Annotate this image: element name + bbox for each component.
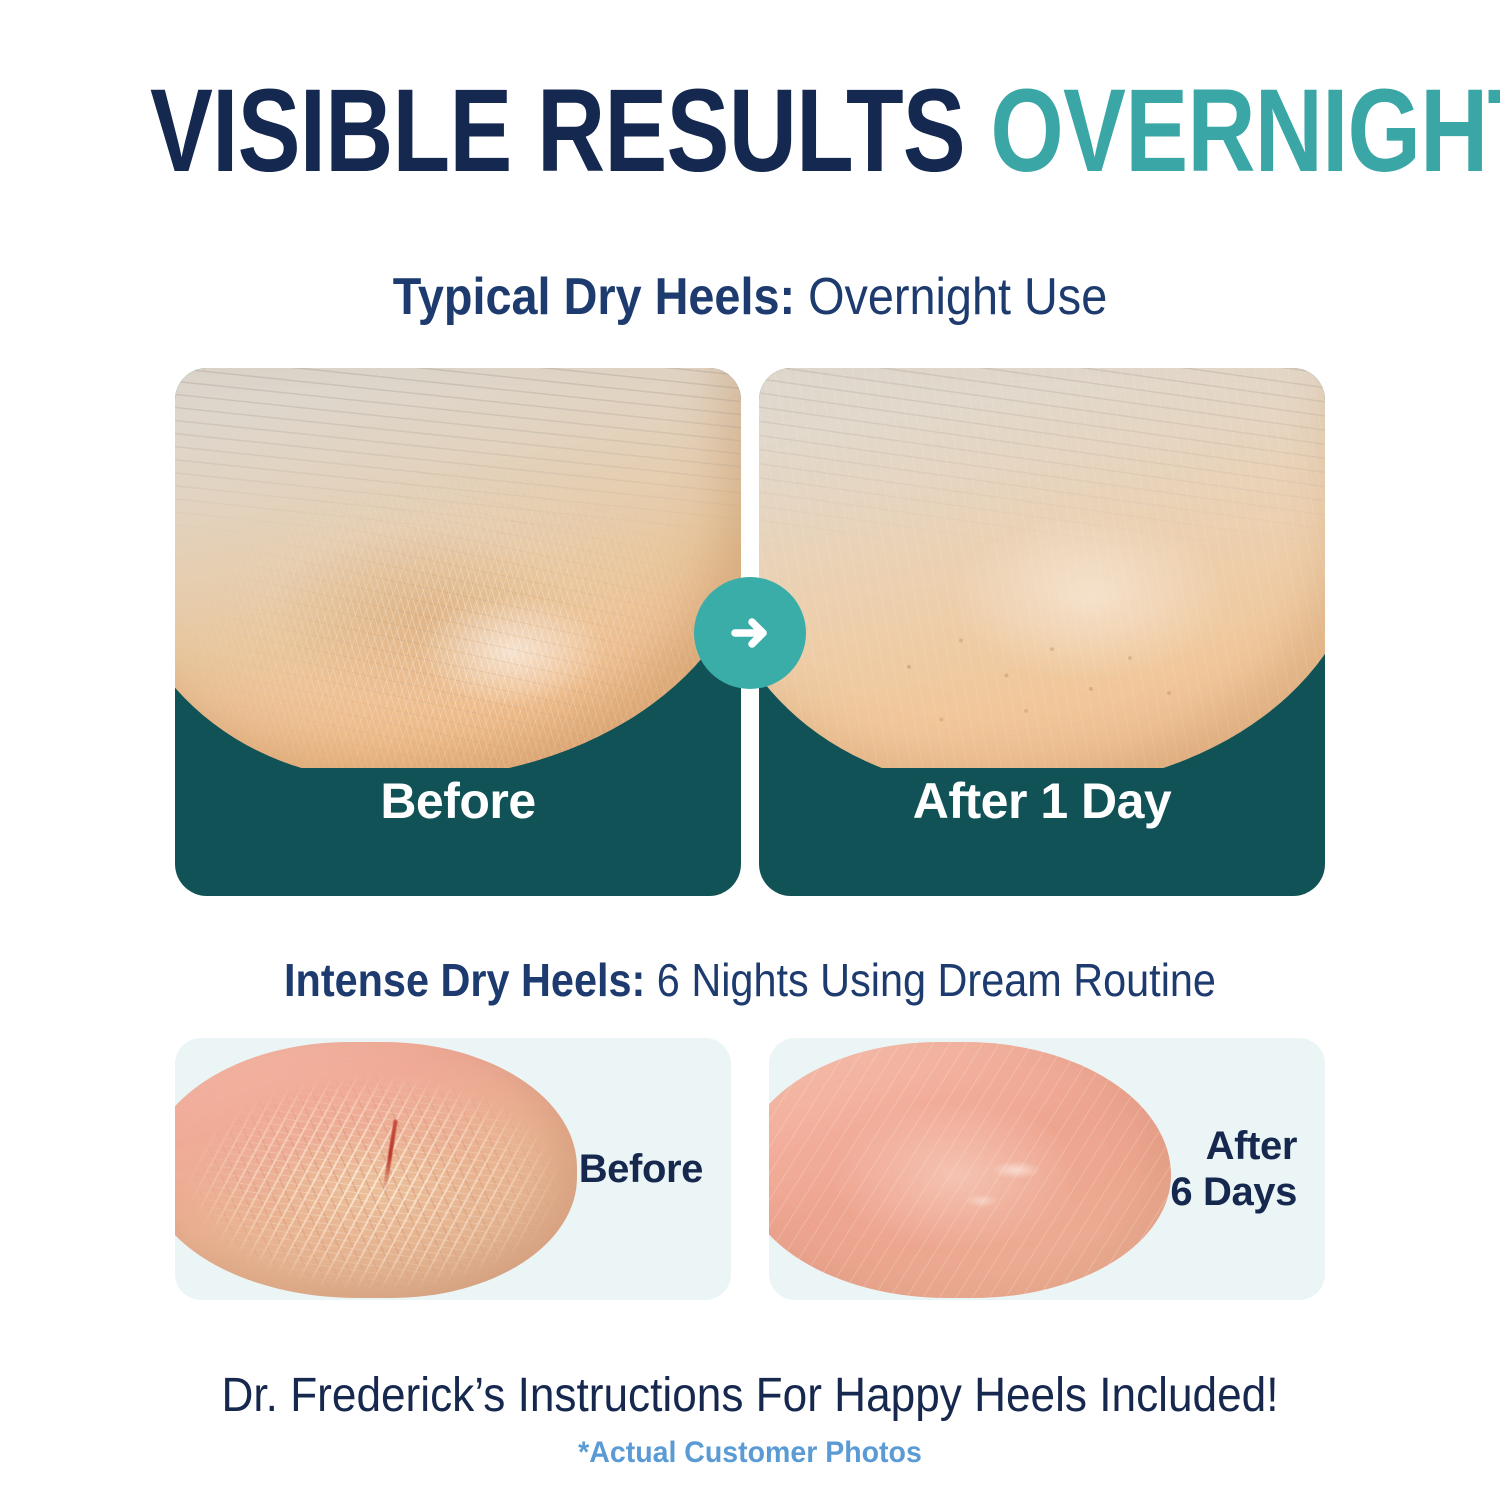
infographic-page: VISIBLE RESULTS OVERNIGHT Typical Dry He…: [0, 0, 1500, 1500]
headline-navy-text: VISIBLE RESULTS: [150, 65, 965, 197]
card-label-after-line-2: 6 Days: [1170, 1169, 1297, 1215]
headline-teal-text: OVERNIGHT: [990, 65, 1500, 197]
section-1-title: Typical Dry Heels: Overnight Use: [75, 268, 1425, 326]
footer-headline: Dr. Frederick’s Instructions For Happy H…: [60, 1368, 1440, 1424]
card-after-six-days: After 6 Days: [769, 1038, 1325, 1300]
card-label-after-line-1: After: [1170, 1123, 1297, 1169]
section-1-title-regular: Overnight Use: [808, 268, 1107, 326]
panel-label-before: Before: [175, 772, 741, 830]
dry-heel-before-photo: [175, 368, 741, 768]
panel-after-one-day: After 1 Day: [759, 368, 1325, 896]
page-headline: VISIBLE RESULTS OVERNIGHT: [150, 72, 1350, 190]
section-2-title-bold: Intense Dry Heels:: [284, 954, 645, 1006]
card-label-before: Before: [579, 1146, 703, 1192]
intense-comparison-row: Before After 6 Days: [175, 1038, 1325, 1300]
card-before-intense: Before: [175, 1038, 731, 1300]
section-2-title-regular: 6 Nights Using Dream Routine: [657, 954, 1216, 1006]
footer-disclaimer: *Actual Customer Photos: [38, 1435, 1463, 1471]
arrow-right-icon: [694, 577, 806, 689]
card-label-after-6-days: After 6 Days: [1170, 1123, 1297, 1215]
panel-before-overnight: Before: [175, 368, 741, 896]
dry-heel-after-one-day-photo: [759, 368, 1325, 768]
section-1-title-bold: Typical Dry Heels:: [393, 268, 795, 326]
panel-label-after-1-day: After 1 Day: [759, 772, 1325, 830]
section-2-title: Intense Dry Heels: 6 Nights Using Dream …: [75, 954, 1425, 1006]
